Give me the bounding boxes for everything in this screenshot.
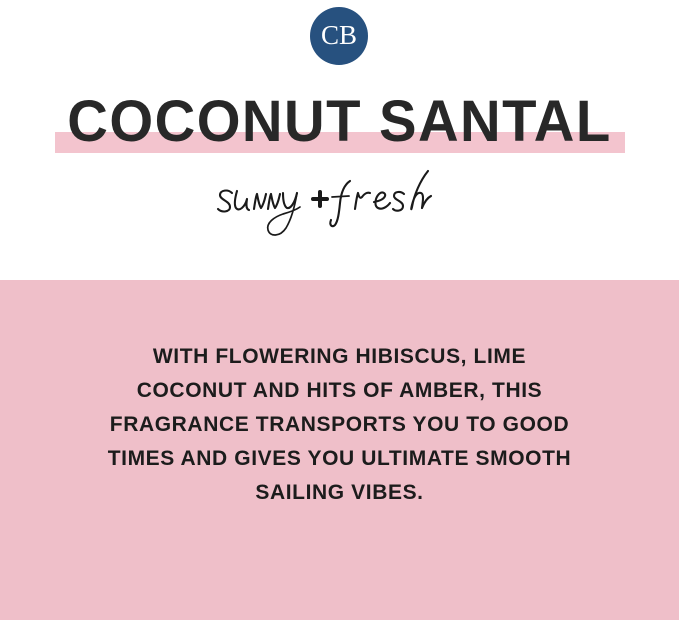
brand-logo-icon: CB — [310, 7, 368, 65]
description-pink-section: WITH FLOWERING HIBISCUS, LIME COCONUT AN… — [0, 280, 679, 620]
script-tagline-icon — [210, 163, 470, 241]
product-description-card: CB COCONUT SANTAL — [0, 0, 679, 620]
description-line: COCONUT AND HITS OF AMBER, THIS — [100, 374, 579, 408]
product-title-group: COCONUT SANTAL — [0, 96, 679, 158]
description-line: SAILING VIBES. — [100, 476, 579, 510]
header-white-section: CB COCONUT SANTAL — [0, 0, 679, 280]
description-line: TIMES AND GIVES YOU ULTIMATE SMOOTH — [100, 442, 579, 476]
tagline-group — [0, 163, 679, 243]
description-line: FRAGRANCE TRANSPORTS YOU TO GOOD — [100, 408, 579, 442]
description-line: WITH FLOWERING HIBISCUS, LIME — [100, 340, 579, 374]
product-description: WITH FLOWERING HIBISCUS, LIME COCONUT AN… — [0, 340, 679, 510]
brand-logo-initials: CB — [321, 22, 357, 49]
page-title: COCONUT SANTAL — [10, 96, 669, 148]
